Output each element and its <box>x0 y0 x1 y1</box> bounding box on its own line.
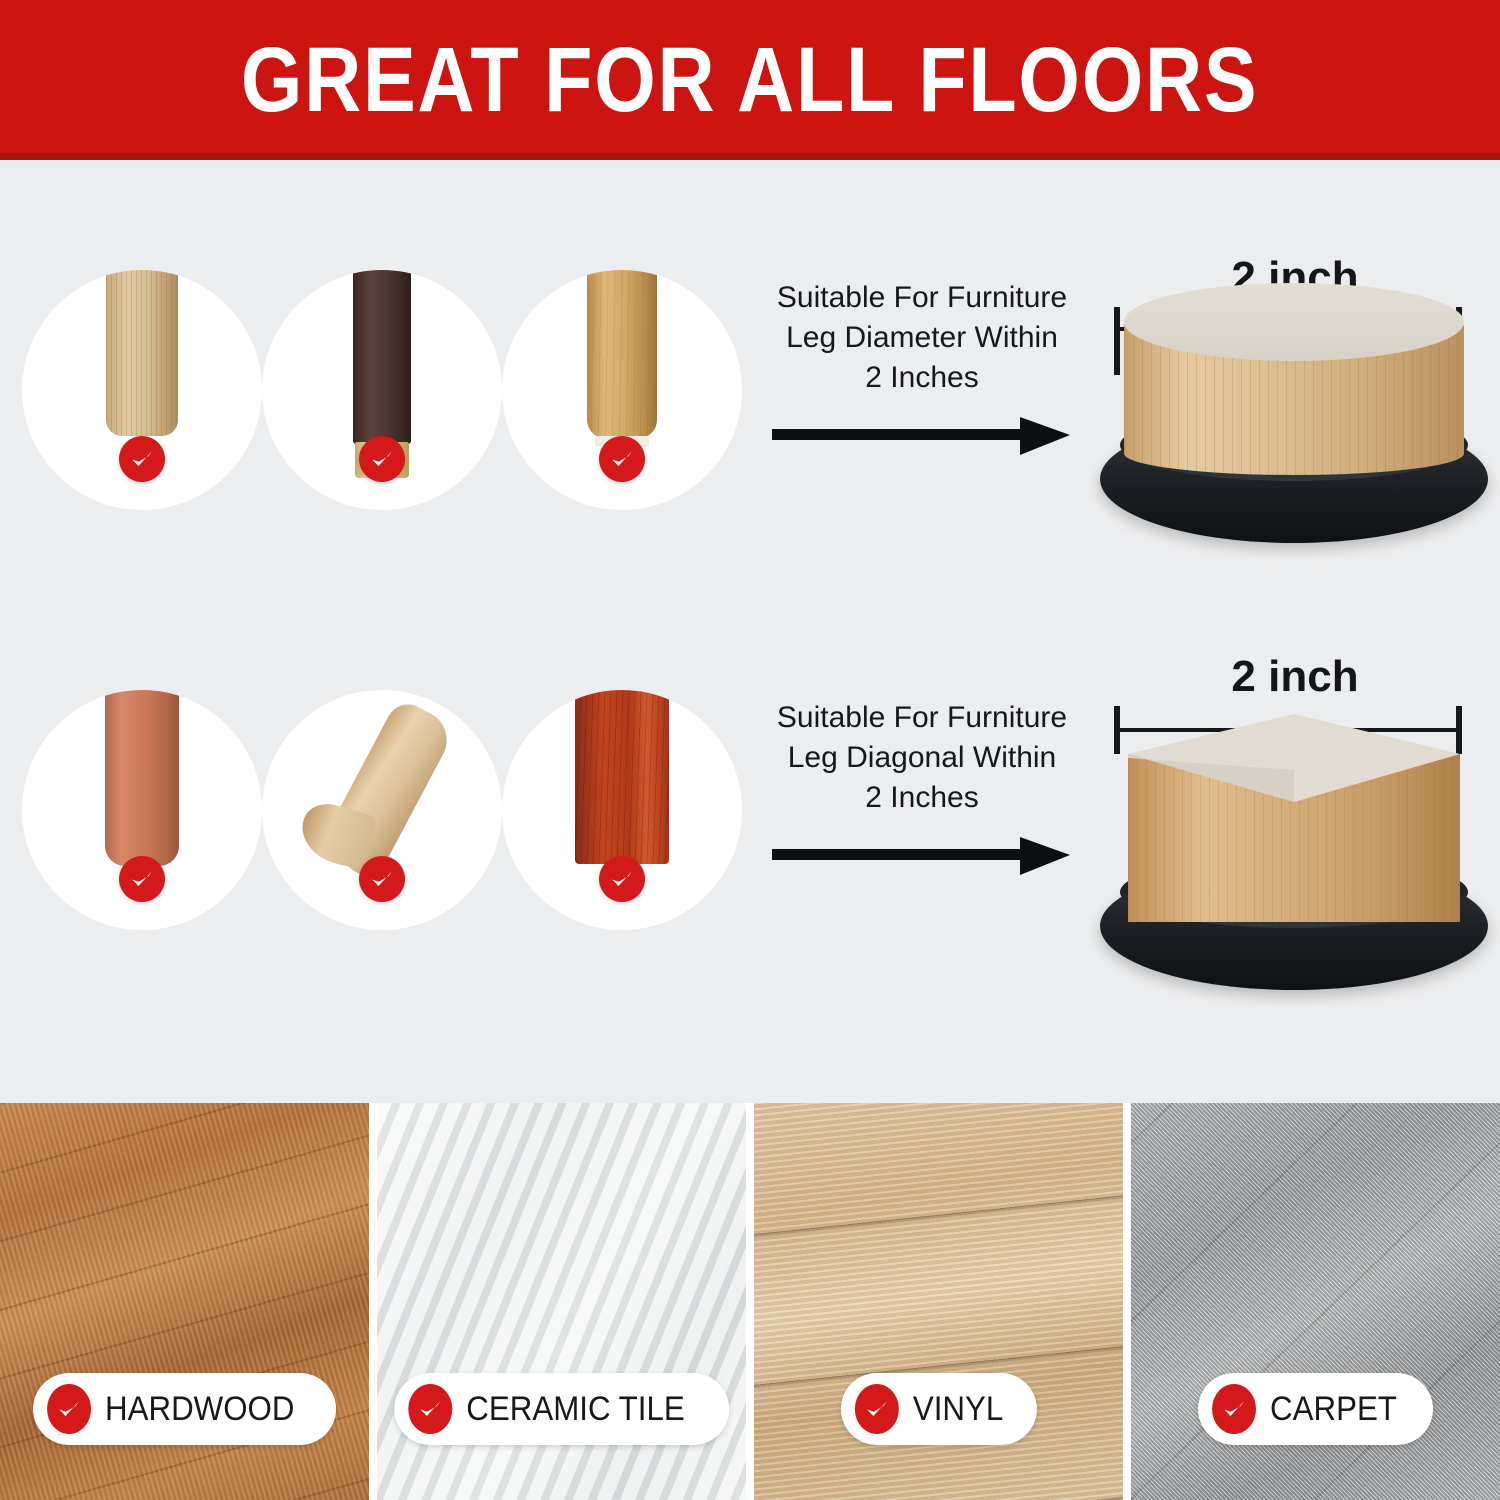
floor-label-carpet: CARPET <box>1270 1390 1397 1429</box>
floor-types-strip: HARDWOOD CERAMIC TILE VINYL <box>0 1103 1500 1500</box>
caption-line-2: Leg Diameter Within <box>762 318 1082 358</box>
thumbnail-oak-round-leg <box>502 270 742 510</box>
product-infographic: GREAT FOR ALL FLOORS <box>0 0 1500 1500</box>
thumbnail-dark-brown-leg <box>262 270 502 510</box>
floor-label-hardwood: HARDWOOD <box>105 1390 294 1429</box>
product-square-leg-in-cup: 2 inch <box>1100 662 1490 992</box>
check-icon <box>119 436 165 482</box>
thumbnail-curved-leg <box>262 690 502 930</box>
curved-leg-graphic <box>317 697 457 883</box>
page-title: GREAT FOR ALL FLOORS <box>241 34 1259 126</box>
dark-leg-graphic <box>353 270 411 444</box>
floor-badge-vinyl: VINYL <box>840 1373 1036 1445</box>
arrow-right-icon <box>772 835 1072 877</box>
arrow-right-icon <box>772 415 1072 457</box>
product-round-leg-in-cup: 2 inch <box>1100 265 1490 565</box>
floor-panel-carpet: CARPET <box>1131 1103 1500 1500</box>
pine-leg-graphic <box>106 270 178 436</box>
caption-line-2: Leg Diagonal Within <box>762 738 1082 778</box>
caption-round: Suitable For Furniture Leg Diameter With… <box>762 278 1082 398</box>
floor-badge-ceramic-tile: CERAMIC TILE <box>394 1373 729 1445</box>
floor-panel-ceramic-tile: CERAMIC TILE <box>377 1103 746 1500</box>
caption-line-3: 2 Inches <box>762 358 1082 398</box>
square-leg-top-face <box>1128 714 1460 804</box>
caption-square: Suitable For Furniture Leg Diagonal With… <box>762 698 1082 818</box>
check-icon <box>359 856 405 902</box>
check-icon <box>599 436 645 482</box>
caption-block-square: Suitable For Furniture Leg Diagonal With… <box>762 690 1082 1110</box>
floor-badge-carpet: CARPET <box>1198 1373 1434 1445</box>
thumbnail-pine-round-leg <box>22 270 262 510</box>
floor-panel-hardwood: HARDWOOD <box>0 1103 369 1500</box>
compat-row-round-legs: Suitable For Furniture Leg Diameter With… <box>0 270 1500 700</box>
check-icon <box>854 1384 898 1434</box>
floor-label-ceramic-tile: CERAMIC TILE <box>466 1390 684 1429</box>
compatibility-section: Suitable For Furniture Leg Diameter With… <box>0 160 1500 1103</box>
check-icon <box>1212 1384 1256 1434</box>
terracotta-leg-graphic <box>105 690 179 866</box>
round-leg-top-face <box>1124 283 1464 361</box>
caption-line-3: 2 Inches <box>762 778 1082 818</box>
oak-leg-graphic <box>587 270 657 438</box>
caption-line-1: Suitable For Furniture <box>762 698 1082 738</box>
floor-label-vinyl: VINYL <box>912 1390 1002 1429</box>
check-icon <box>119 856 165 902</box>
floor-badge-hardwood: HARDWOOD <box>33 1373 337 1445</box>
thumbnail-group-round <box>22 270 752 690</box>
thumbnail-group-square <box>22 690 752 1110</box>
thumbnail-terracotta-leg <box>22 690 262 930</box>
check-icon <box>47 1384 91 1434</box>
compat-row-square-legs: Suitable For Furniture Leg Diagonal With… <box>0 690 1500 1120</box>
caption-block-round: Suitable For Furniture Leg Diameter With… <box>762 270 1082 690</box>
caption-line-1: Suitable For Furniture <box>762 278 1082 318</box>
check-icon <box>408 1384 452 1434</box>
mahogany-leg-graphic <box>575 690 669 864</box>
thumbnail-mahogany-square-leg <box>502 690 742 930</box>
floor-panel-vinyl: VINYL <box>754 1103 1123 1500</box>
check-icon <box>599 856 645 902</box>
check-icon <box>359 436 405 482</box>
header-banner: GREAT FOR ALL FLOORS <box>0 0 1500 160</box>
